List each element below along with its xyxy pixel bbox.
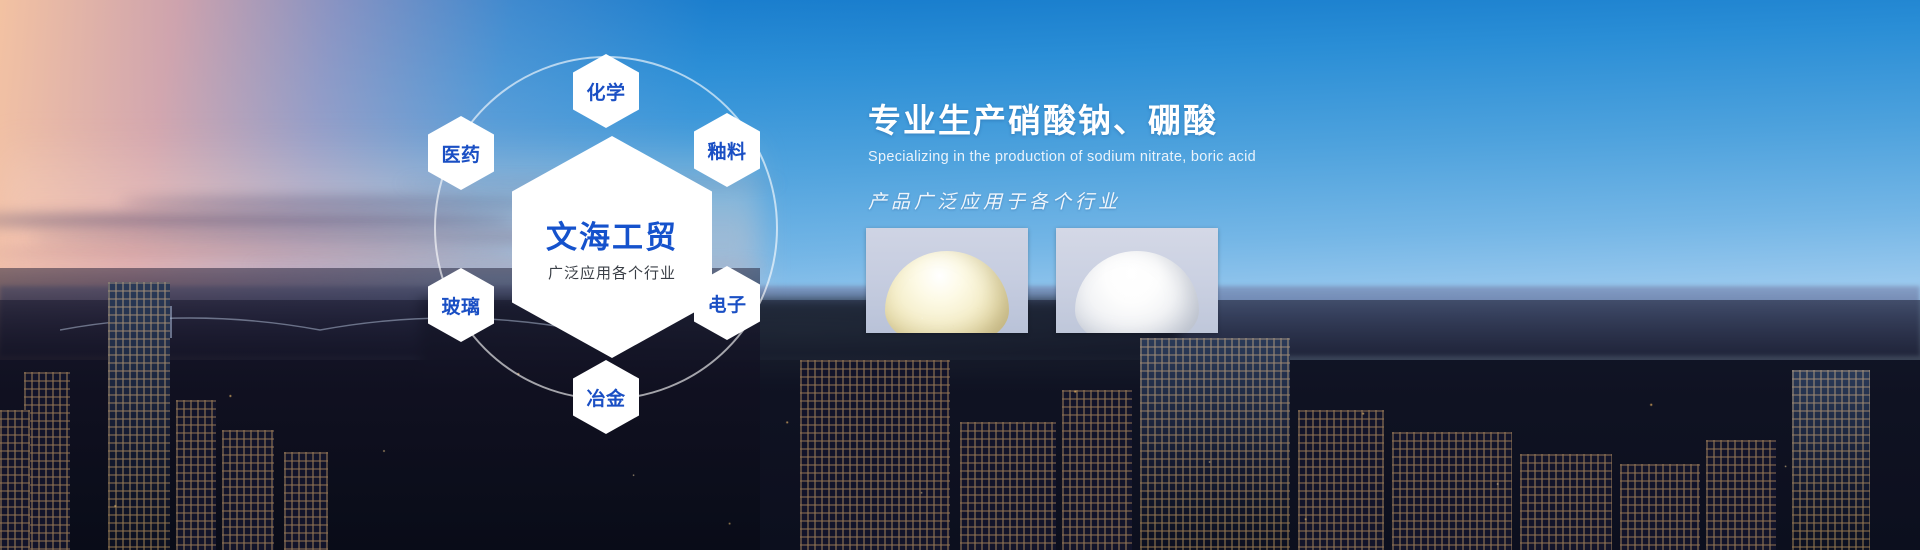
- building-silhouette: [1520, 454, 1612, 550]
- banner-tagline: 产品广泛应用于各个行业: [868, 187, 1568, 214]
- banner-headline: 专业生产硝酸钠、硼酸: [868, 100, 1568, 141]
- building-silhouette: [1140, 338, 1290, 550]
- building-silhouette: [284, 452, 328, 550]
- powder-grain-texture: [1075, 251, 1199, 333]
- building-silhouette: [0, 410, 30, 550]
- hex-node-label: 冶金: [586, 384, 625, 411]
- building-silhouette: [1392, 432, 1512, 550]
- building-silhouette: [960, 422, 1056, 550]
- building-silhouette: [176, 400, 216, 550]
- building-silhouette: [108, 282, 170, 550]
- hex-node-label: 电子: [707, 290, 746, 317]
- powder-pile: [1075, 251, 1199, 333]
- building-silhouette: [1062, 390, 1132, 550]
- building-silhouette: [1298, 410, 1384, 550]
- hex-node-label: 釉料: [707, 137, 746, 164]
- hexagon-infographic: 化学 釉料 医药 玻璃 电子 冶金 文海工贸 广泛应用各个行业: [406, 18, 826, 438]
- banner-copy: 专业生产硝酸钠、硼酸 Specializing in the productio…: [868, 100, 1568, 214]
- product-photo-boric-acid[interactable]: [1056, 228, 1218, 333]
- building-silhouette: [222, 430, 274, 550]
- promo-banner: 化学 釉料 医药 玻璃 电子 冶金 文海工贸 广泛应用各个行业 专业生产硝酸钠、…: [0, 0, 1920, 550]
- powder-grain-texture: [885, 251, 1009, 333]
- hex-node-label: 医药: [441, 140, 480, 167]
- product-photo-sodium-nitrate[interactable]: [866, 228, 1028, 333]
- hex-node-label: 化学: [586, 78, 625, 105]
- company-tagline: 广泛应用各个行业: [548, 262, 676, 283]
- building-silhouette: [1620, 464, 1700, 550]
- building-silhouette: [24, 372, 70, 550]
- hex-node-label: 玻璃: [441, 292, 480, 319]
- powder-pile: [885, 251, 1009, 333]
- company-name: 文海工贸: [546, 212, 678, 257]
- building-silhouette: [1706, 440, 1776, 550]
- banner-subheadline-english: Specializing in the production of sodium…: [868, 149, 1568, 165]
- product-photo-group: [866, 228, 1218, 333]
- building-silhouette: [1792, 370, 1870, 550]
